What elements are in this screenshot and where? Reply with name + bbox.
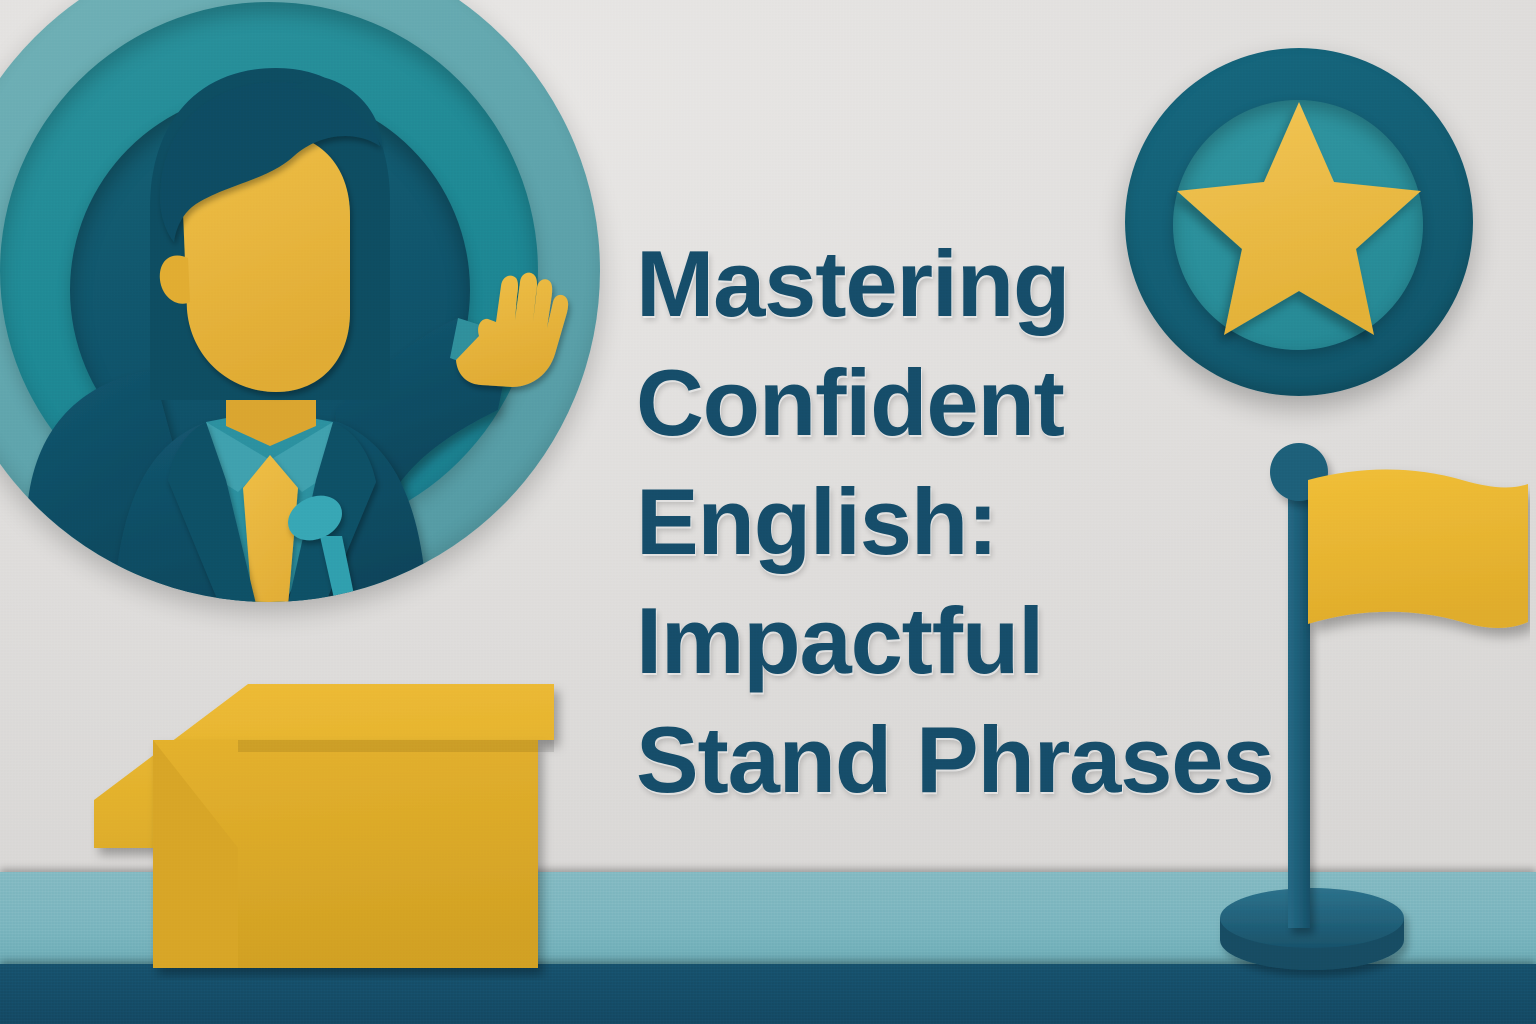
speaker-figure: [0, 0, 600, 602]
title-line-2: Confident: [636, 343, 1326, 462]
title-line-1: Mastering: [636, 224, 1326, 343]
podium: [90, 640, 590, 980]
speaker-medallion: [0, 0, 600, 602]
podium-lip-shadow: [238, 740, 554, 752]
banner-image: Mastering Confident English: Impactful S…: [0, 0, 1536, 1024]
flag-base: [1220, 888, 1404, 970]
flag-banner: [1308, 470, 1528, 629]
page-title: Mastering Confident English: Impactful S…: [636, 224, 1326, 819]
title-line-5: Stand Phrases: [636, 700, 1326, 819]
title-line-3: English:: [636, 462, 1326, 581]
title-line-4: Impactful: [636, 581, 1326, 700]
